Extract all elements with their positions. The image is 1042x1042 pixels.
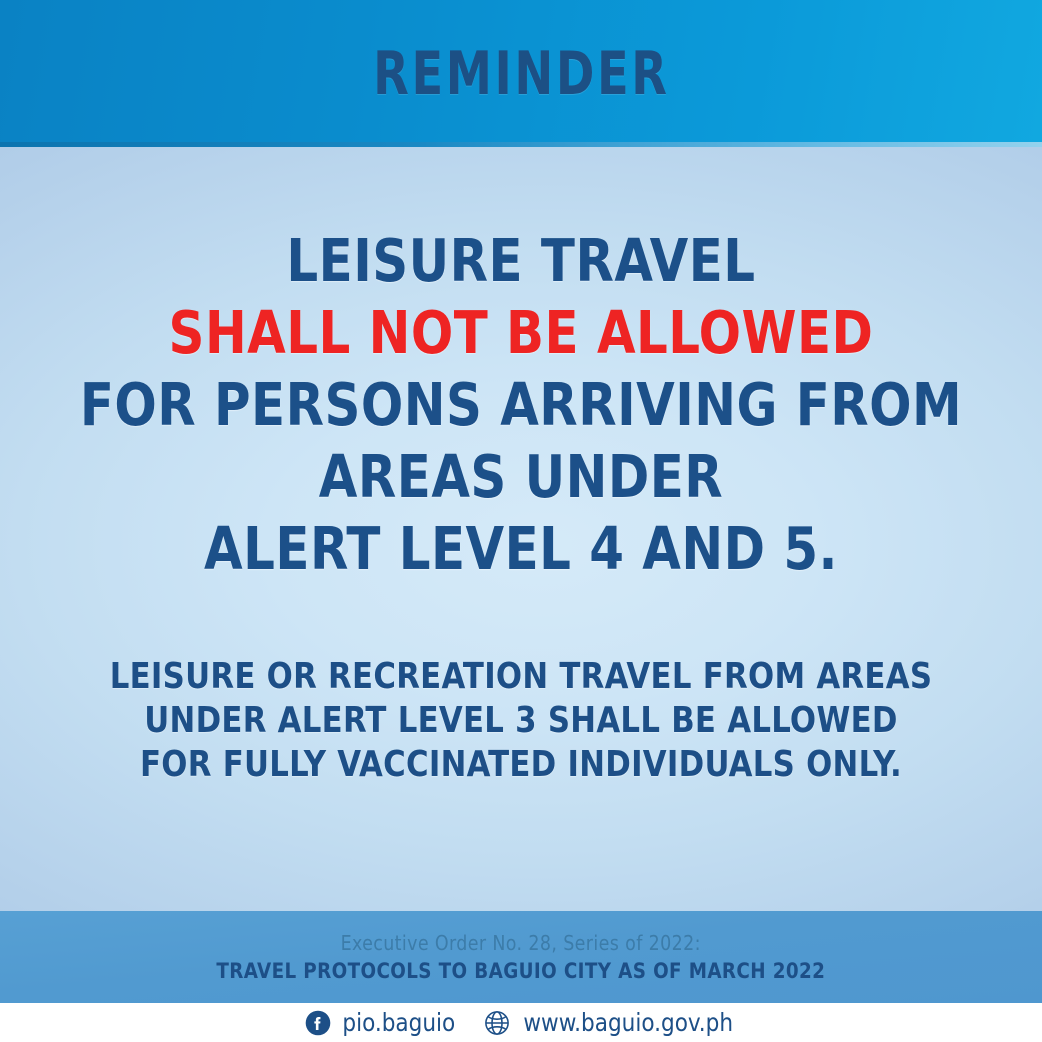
social-strip: pio.baguio www.baguio.gov.ph (0, 1003, 1042, 1042)
subtext-line-3: FOR FULLY VACCINATED INDIVIDUALS ONLY. (94, 743, 949, 787)
headline-line-2-prohibition: SHALL NOT BE ALLOWED (70, 297, 972, 369)
social-item-website[interactable]: www.baguio.gov.ph (484, 1010, 737, 1036)
facebook-handle-label: pio.baguio (342, 1010, 455, 1035)
poster-body: LEISURE TRAVEL SHALL NOT BE ALLOWED FOR … (0, 147, 1042, 911)
website-url-label: www.baguio.gov.ph (523, 1010, 733, 1035)
headline-line-5: ALERT LEVEL 4 AND 5. (70, 513, 972, 585)
executive-order-reference: Executive Order No. 28, Series of 2022: (341, 930, 701, 956)
headline-line-4: AREAS UNDER (70, 441, 972, 513)
facebook-icon (305, 1010, 331, 1036)
footer-band: Executive Order No. 28, Series of 2022: … (0, 911, 1042, 1003)
document-title: TRAVEL PROTOCOLS TO BAGUIO CITY AS OF MA… (217, 958, 826, 984)
reminder-poster: REMINDER LEISURE TRAVEL SHALL NOT BE ALL… (0, 0, 1042, 1042)
subtext-line-1: LEISURE OR RECREATION TRAVEL FROM AREAS (94, 655, 949, 699)
headline-line-3: FOR PERSONS ARRIVING FROM (70, 369, 972, 441)
headline-block: LEISURE TRAVEL SHALL NOT BE ALLOWED FOR … (41, 225, 1001, 585)
social-item-facebook[interactable]: pio.baguio (305, 1010, 458, 1036)
subtext-line-2: UNDER ALERT LEVEL 3 SHALL BE ALLOWED (94, 699, 949, 743)
subtext-block: LEISURE OR RECREATION TRAVEL FROM AREAS … (71, 655, 971, 787)
page-title: REMINDER (373, 44, 669, 104)
globe-icon (484, 1010, 510, 1036)
headline-line-1: LEISURE TRAVEL (70, 225, 972, 297)
header-band: REMINDER (0, 0, 1042, 147)
